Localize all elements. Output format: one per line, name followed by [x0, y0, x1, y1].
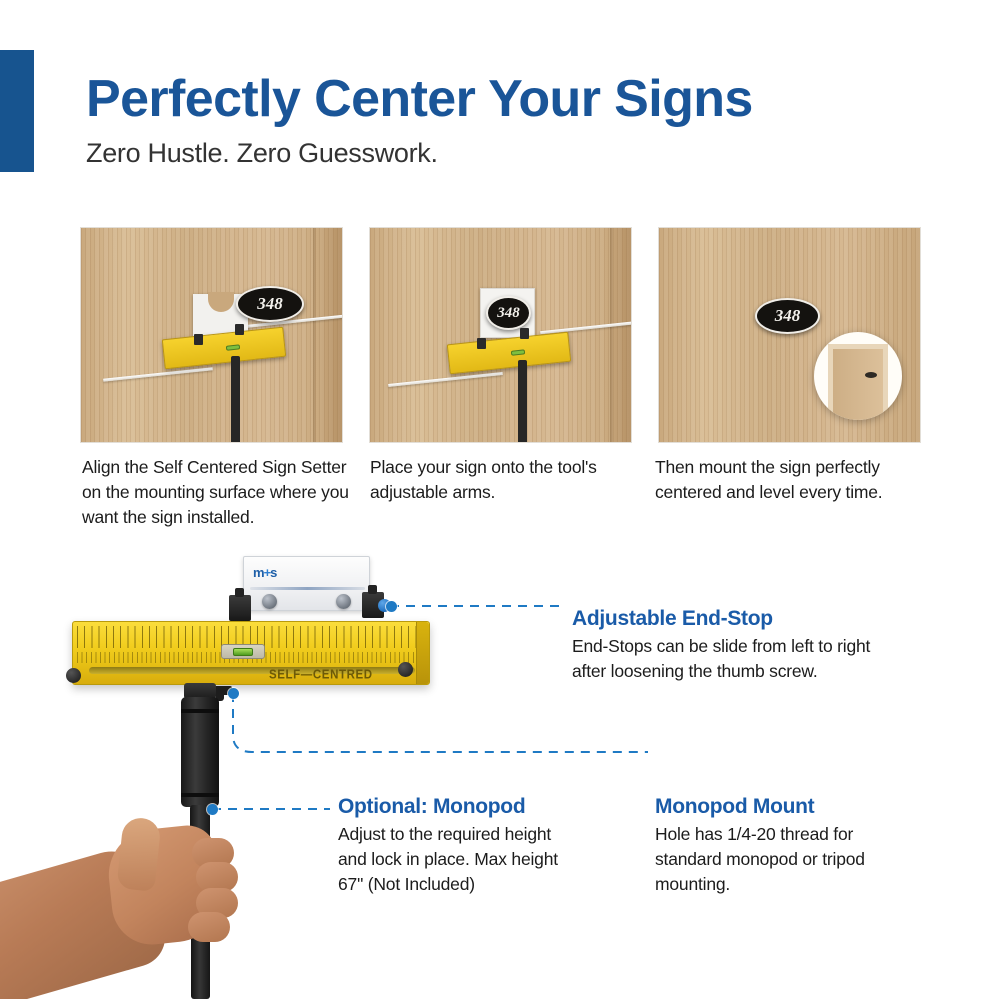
annotation-body: Adjust to the required height and lock i…: [338, 822, 568, 897]
finger-4: [188, 912, 230, 942]
annotation-heading: Monopod Mount: [655, 795, 905, 819]
house-number-sign: 348: [236, 286, 304, 322]
door-closeup-inset: [814, 332, 902, 420]
caption-step-align: Align the Self Centered Sign Setter on t…: [82, 455, 352, 530]
infographic-page: Perfectly Center Your Signs Zero Hustle.…: [0, 0, 1000, 999]
step-photo-place: 348: [369, 227, 632, 443]
monopod-grip: [181, 697, 219, 807]
end-stop-left: [477, 338, 486, 349]
annotation-heading: Optional: Monopod: [338, 795, 568, 819]
ms-logo: m+s: [253, 565, 276, 580]
caption-step-mount: Then mount the sign perfectly centered a…: [655, 455, 905, 505]
connector-dot-mount: [228, 688, 239, 699]
bubble-level-vial: [221, 644, 265, 659]
door-frame: [828, 344, 888, 420]
plate-bolt-right: [336, 594, 351, 609]
house-number-sign: 348: [486, 296, 531, 330]
caption-step-place: Place your sign onto the tool's adjustab…: [370, 455, 620, 505]
connector-dot-monopod: [207, 804, 218, 815]
page-subtitle: Zero Hustle. Zero Guesswork.: [86, 138, 438, 169]
bubble-vial: [226, 344, 240, 350]
hand-holding-monopod: [0, 800, 260, 999]
annotation-monopod-mount: Monopod Mount Hole has 1/4-20 thread for…: [655, 795, 905, 897]
thumb: [116, 816, 161, 892]
brand-label: SELF—CENTRED: [269, 668, 373, 682]
self-centred-ruler: SELF—CENTRED: [72, 621, 430, 685]
step-photo-align: 348: [80, 227, 343, 443]
step-photo-mounted: 348: [658, 227, 921, 443]
step-photo-panels: 348 348: [80, 227, 922, 443]
annotation-body: End-Stops can be slide from left to righ…: [572, 634, 872, 684]
monopod-pole: [518, 360, 527, 443]
house-number-sign: 348: [755, 298, 820, 334]
ruler-end-cap: [416, 622, 429, 684]
end-stop-right: [520, 328, 529, 339]
end-stop-right: [235, 324, 244, 335]
arm-knob-right: [398, 662, 413, 677]
monopod-pole: [231, 356, 240, 443]
arm-knob-left: [66, 668, 81, 683]
annotation-body: Hole has 1/4-20 thread for standard mono…: [655, 822, 905, 897]
plate-streak: [250, 587, 365, 590]
connector-dot-end-stop: [386, 601, 397, 612]
end-stop-left: [194, 334, 203, 345]
annotation-adjustable-end-stop: Adjustable End-Stop End-Stops can be sli…: [572, 607, 872, 684]
annotation-optional-monopod: Optional: Monopod Adjust to the required…: [338, 795, 568, 897]
plate-bolt-left: [262, 594, 277, 609]
sign-plate: m+s: [243, 556, 370, 611]
bubble-vial: [511, 349, 525, 355]
annotation-heading: Adjustable End-Stop: [572, 607, 872, 631]
header-accent-bar: [0, 50, 34, 172]
page-title: Perfectly Center Your Signs: [86, 72, 753, 127]
end-stop-left-block: [229, 595, 251, 621]
